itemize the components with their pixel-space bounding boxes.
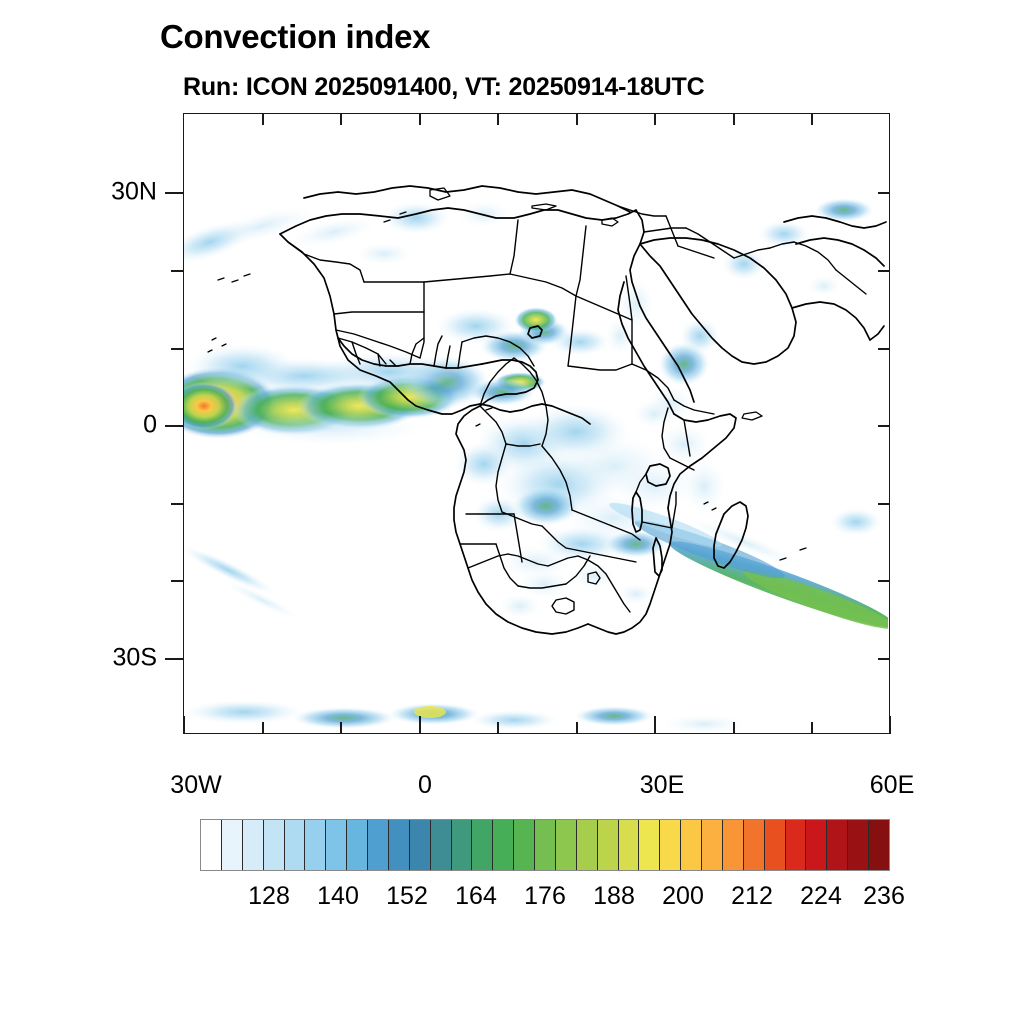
page-title: Convection index bbox=[160, 18, 430, 56]
colorbar-cell-12 bbox=[452, 820, 473, 870]
colorbar-cell-31 bbox=[848, 820, 869, 870]
xlabel-30e: 30E bbox=[640, 771, 684, 800]
xlabel-60e: 60E bbox=[870, 771, 914, 800]
colorbar-label-8: 224 bbox=[800, 882, 842, 911]
ytick-right-30n bbox=[878, 192, 890, 194]
colorbar-cell-24 bbox=[702, 820, 723, 870]
colorbar-label-1: 140 bbox=[317, 882, 359, 911]
colorbar-cell-27 bbox=[765, 820, 786, 870]
colorbar-cell-28 bbox=[786, 820, 807, 870]
xtick-top-10w bbox=[340, 113, 342, 125]
colorbar-cell-29 bbox=[806, 820, 827, 870]
xlabel-30w: 30W bbox=[170, 771, 221, 800]
convection-field-layer bbox=[184, 198, 888, 732]
colorbar-cell-9 bbox=[389, 820, 410, 870]
colorbar-cell-13 bbox=[472, 820, 493, 870]
ytick-right-20n bbox=[878, 270, 890, 272]
colorbar-cell-8 bbox=[368, 820, 389, 870]
ytick-right-30s bbox=[878, 658, 890, 660]
ytick-minor-20n bbox=[171, 270, 183, 272]
colorbar-cell-23 bbox=[681, 820, 702, 870]
xtick-minor-50e bbox=[811, 722, 813, 734]
colorbar-cells[interactable] bbox=[200, 819, 890, 871]
colorbar-cell-16 bbox=[535, 820, 556, 870]
colorbar-label-5: 188 bbox=[593, 882, 635, 911]
map-canvas bbox=[184, 114, 888, 732]
colorbar-label-7: 212 bbox=[731, 882, 773, 911]
run-validtime-subtitle: Run: ICON 2025091400, VT: 20250914-18UTC bbox=[183, 73, 704, 102]
map-plot-area[interactable] bbox=[183, 113, 890, 734]
colorbar-cell-5 bbox=[305, 820, 326, 870]
colorbar-label-4: 176 bbox=[524, 882, 566, 911]
colorbar-cell-11 bbox=[431, 820, 452, 870]
xtick-minor-20w bbox=[262, 722, 264, 734]
colorbar-cell-0 bbox=[201, 820, 222, 870]
xtick-major-30e bbox=[654, 716, 656, 734]
xtick-major-60e bbox=[889, 716, 891, 734]
ytick-right-0 bbox=[878, 425, 890, 427]
xtick-top-0 bbox=[419, 113, 421, 125]
colorbar-cell-1 bbox=[222, 820, 243, 870]
colorbar-cell-26 bbox=[744, 820, 765, 870]
colorbar-cell-19 bbox=[598, 820, 619, 870]
ylabel-0: 0 bbox=[45, 411, 157, 440]
colorbar-label-2: 152 bbox=[386, 882, 428, 911]
colorbar-cell-30 bbox=[827, 820, 848, 870]
colorbar-cell-18 bbox=[577, 820, 598, 870]
colorbar-cell-3 bbox=[264, 820, 285, 870]
colorbar-cell-7 bbox=[347, 820, 368, 870]
colorbar-cell-2 bbox=[243, 820, 264, 870]
colorbar-cell-25 bbox=[723, 820, 744, 870]
colorbar-cell-20 bbox=[619, 820, 640, 870]
ylabel-30s: 30S bbox=[45, 644, 157, 673]
xtick-top-30e bbox=[654, 113, 656, 125]
colorbar-cell-22 bbox=[660, 820, 681, 870]
ytick-major-0 bbox=[165, 425, 183, 427]
xtick-minor-20e bbox=[576, 722, 578, 734]
ytick-major-30s bbox=[165, 658, 183, 660]
colorbar-label-3: 164 bbox=[455, 882, 497, 911]
ytick-minor-10n bbox=[171, 348, 183, 350]
xtick-major-30w bbox=[183, 716, 185, 734]
ytick-right-10n bbox=[878, 348, 890, 350]
ytick-right-10s bbox=[878, 503, 890, 505]
xtick-major-0 bbox=[419, 716, 421, 734]
colorbar-cell-17 bbox=[556, 820, 577, 870]
ylabel-30n: 30N bbox=[45, 178, 157, 207]
xtick-top-50e bbox=[811, 113, 813, 125]
colorbar-cell-14 bbox=[493, 820, 514, 870]
colorbar-cell-4 bbox=[285, 820, 306, 870]
ytick-minor-20s bbox=[171, 580, 183, 582]
xtick-minor-10e bbox=[497, 722, 499, 734]
xtick-top-10e bbox=[497, 113, 499, 125]
ytick-major-30n bbox=[165, 192, 183, 194]
xtick-minor-40e bbox=[733, 722, 735, 734]
xlabel-0: 0 bbox=[418, 771, 432, 800]
colorbar-cell-32 bbox=[869, 820, 889, 870]
xtick-top-20e bbox=[576, 113, 578, 125]
colorbar-cell-21 bbox=[639, 820, 660, 870]
colorbar-label-9: 236 bbox=[863, 882, 905, 911]
xtick-top-20w bbox=[262, 113, 264, 125]
colorbar-label-6: 200 bbox=[662, 882, 704, 911]
xtick-top-40e bbox=[733, 113, 735, 125]
ytick-right-20s bbox=[878, 580, 890, 582]
colorbar-cell-15 bbox=[514, 820, 535, 870]
colorbar[interactable] bbox=[200, 819, 890, 871]
colorbar-cell-10 bbox=[410, 820, 431, 870]
xtick-minor-10w bbox=[340, 722, 342, 734]
ytick-minor-10s bbox=[171, 503, 183, 505]
colorbar-cell-6 bbox=[326, 820, 347, 870]
colorbar-label-0: 128 bbox=[248, 882, 290, 911]
